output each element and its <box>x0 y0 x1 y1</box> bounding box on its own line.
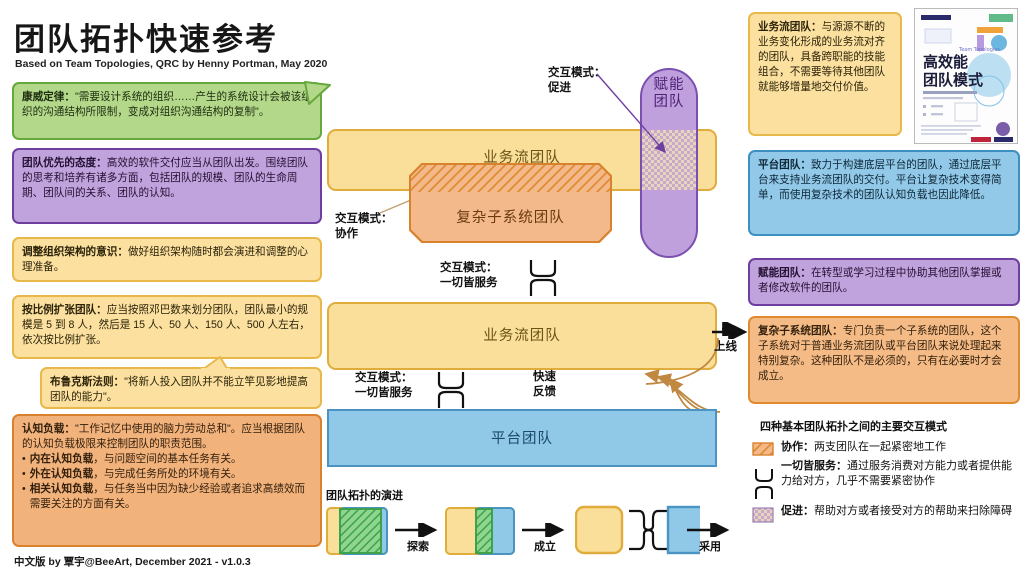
svg-text:团队模式: 团队模式 <box>923 71 983 89</box>
note-scale-teams-title: 按比例扩张团队： <box>22 304 107 316</box>
bullet-2-title: 相关认知负载 <box>30 483 94 495</box>
note-org-restructure-title: 调整组织架构的意识： <box>22 246 128 258</box>
evolution-stage-2 <box>445 507 515 555</box>
note-enabling-team: 赋能团队：在转型或学习过程中协助其他团队掌握或者修改软件的团队。 <box>748 258 1020 306</box>
annotation-xaas-top-line2: 一切皆服务 <box>440 276 524 291</box>
note-stream-aligned-title: 业务流团队： <box>758 21 822 33</box>
evolution-title: 团队拓扑的演进 <box>326 487 403 503</box>
bullet-0-title: 内在认知负载 <box>30 453 94 465</box>
legend-facilitating-title: 促进： <box>781 505 814 517</box>
cognitive-load-bullet: • 外在认知负载，与完成任务所处的环境有关。 <box>22 467 312 482</box>
evolution-step-label-3: 采用 <box>685 538 735 554</box>
footer-credit: 中文版 by 覃宇@BeeArt, December 2021 - v1.0.3 <box>14 554 251 569</box>
svg-text:高效能: 高效能 <box>923 53 968 71</box>
complicated-subsystem-team-label: 复杂子系统团队 <box>408 206 613 227</box>
page-subtitle: Based on Team Topologies, QRC by Henny P… <box>15 58 327 70</box>
legend-xaas-title: 一切皆服务： <box>781 460 847 472</box>
note-team-first: 团队优先的态度：高效的软件交付应当从团队出发。围绕团队的思考和培养有诸多方面，包… <box>12 148 322 224</box>
evolution-stage-1 <box>326 507 388 555</box>
legend-item-collaboration: 协作：两支团队在一起紧密地工作 <box>752 440 1020 456</box>
legend-facilitating-desc: 帮助对方或者接受对方的帮助来扫除障碍 <box>814 505 1012 517</box>
note-conway-law: 康威定律："需要设计系统的组织……产生的系统设计会被该组织的沟通结构所限制，变成… <box>12 82 322 140</box>
speech-tail-conway <box>303 80 333 114</box>
cognitive-load-title: 认知负载： <box>22 423 75 435</box>
legend-item-xaas: 一切皆服务：通过服务消费对方能力或者提供能力给对方，几乎不需要紧密协作 <box>752 459 1020 501</box>
note-conway-law-title: 康威定律： <box>22 91 75 103</box>
note-complicated-title: 复杂子系统团队： <box>758 325 843 337</box>
facilitating-swatch-icon <box>752 507 774 523</box>
platform-team-label: 平台团队 <box>329 427 715 448</box>
note-enabling-title: 赋能团队： <box>758 267 811 279</box>
xaas-swatch-icon <box>752 467 774 501</box>
cognitive-load-bullet: • 内在认知负载，与问题空间的基本任务有关。 <box>22 452 312 467</box>
evolution-arrow-1 <box>395 523 445 537</box>
bullet-1-text: ，与完成任务所处的环境有关。 <box>93 468 241 480</box>
legend-item-facilitating: 促进：帮助对方或者接受对方的帮助来扫除障碍 <box>752 504 1020 523</box>
platform-team: 平台团队 <box>327 409 717 467</box>
note-complicated-subsystem-team: 复杂子系统团队：专门负责一个子系统的团队，这个子系统对于普通业务流团队或平台团队… <box>748 316 1020 404</box>
annotation-xaas-top: 交互模式： 一切皆服务 <box>440 261 524 291</box>
evolution-step-label-1: 探索 <box>393 538 443 554</box>
evolution-stage-3 <box>575 505 700 555</box>
annotation-xaas-bottom: 交互模式： 一切皆服务 <box>355 371 439 401</box>
legend-item-xaas-text: 一切皆服务：通过服务消费对方能力或者提供能力给对方，几乎不需要紧密协作 <box>781 459 1020 488</box>
legend-item-collaboration-text: 协作：两支团队在一起紧密地工作 <box>781 440 946 455</box>
complicated-subsystem-team <box>408 162 613 244</box>
legend-collaboration-desc: 两支团队在一起紧密地工作 <box>814 441 946 453</box>
note-cognitive-load: 认知负载："工作记忆中使用的脑力劳动总和"。应当根据团队的认知负载极限来控制团队… <box>12 414 322 547</box>
bullet-dot-icon: • <box>22 452 26 467</box>
bullet-dot-icon: • <box>22 482 26 512</box>
speech-tail-brooks <box>196 355 232 373</box>
evolution-arrow-3 <box>687 523 737 537</box>
note-platform-team: 平台团队：致力于构建底层平台的团队，通过底层平台来支持业务流团队的交付。平台让复… <box>748 150 1020 236</box>
bullet-1-title: 外在认知负载 <box>30 468 94 480</box>
legend-item-facilitating-text: 促进：帮助对方或者接受对方的帮助来扫除障碍 <box>781 504 1012 519</box>
annotation-xaas-bottom-line1: 交互模式： <box>355 371 439 386</box>
xaas-icon-bottom <box>435 370 467 410</box>
cognitive-load-bullet: • 相关认知负载，与任务当中因为缺少经验或者追求高绩效而需要关注的方面有关。 <box>22 482 312 512</box>
book-cover-art: Team Topologies 高效能 团队模式 <box>915 9 1018 144</box>
leader-line-facilitating <box>595 72 675 172</box>
collaboration-swatch-icon <box>752 442 774 456</box>
evolution-arrow-2 <box>522 523 572 537</box>
note-platform-title: 平台团队： <box>758 159 811 171</box>
legend-title: 四种基本团队拓扑之间的主要交互模式 <box>760 418 1020 434</box>
legend-collaboration-title: 协作： <box>781 441 814 453</box>
xaas-icon-top <box>527 258 559 298</box>
page-title: 团队拓扑快速参考 <box>14 14 278 59</box>
note-brooks-law-title: 布鲁克斯法则： <box>50 376 124 388</box>
note-stream-aligned-team: 业务流团队：与源源不断的业务变化形成的业务流对齐的团队，具备跨职能的技能组合，不… <box>748 12 902 136</box>
cognitive-load-intro: 认知负载："工作记忆中使用的脑力劳动总和"。应当根据团队的认知负载极限来控制团队… <box>22 422 312 452</box>
bullet-0-text: ，与问题空间的基本任务有关。 <box>93 453 241 465</box>
annotation-xaas-top-line1: 交互模式： <box>440 261 524 276</box>
note-org-restructure: 调整组织架构的意识：做好组织架构随时都会演进和调整的心理准备。 <box>12 237 322 282</box>
pointer-arrow-complicated <box>722 322 748 336</box>
annotation-xaas-bottom-line2: 一切皆服务 <box>355 386 439 401</box>
book-cover: Team Topologies 高效能 团队模式 <box>914 8 1018 144</box>
note-scale-teams: 按比例扩张团队：应当按照邓巴数来划分团队，团队最小的规模是 5 到 8 人，然后… <box>12 295 322 359</box>
legend: 四种基本团队拓扑之间的主要交互模式 协作：两支团队在一起紧密地工作 一切皆服务：… <box>752 418 1020 523</box>
note-brooks-law: 布鲁克斯法则："将新人投入团队并不能立竿见影地提高团队的能力"。 <box>40 367 322 409</box>
svg-text:Team Topologies: Team Topologies <box>958 47 1000 53</box>
evolution-step-label-2: 成立 <box>520 538 570 554</box>
note-team-first-title: 团队优先的态度： <box>22 157 107 169</box>
bullet-dot-icon: • <box>22 467 26 482</box>
annotation-release: 上线 <box>714 340 737 355</box>
